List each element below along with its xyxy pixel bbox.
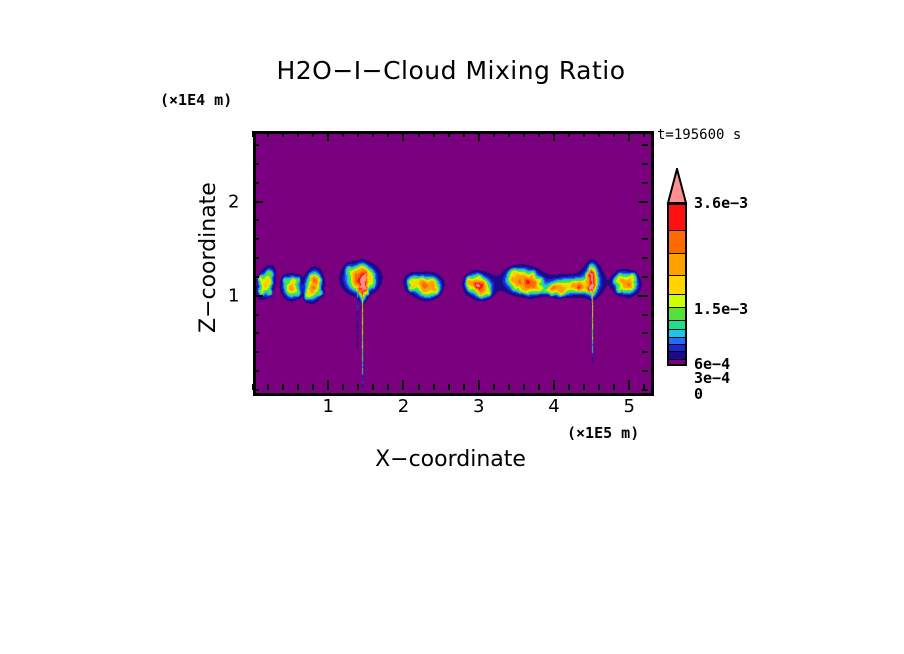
x-tick-top <box>463 131 465 137</box>
x-tick <box>327 380 329 390</box>
colorbar-band <box>669 352 685 359</box>
x-tick-top <box>478 131 480 141</box>
x-tick-top <box>613 131 615 137</box>
colorbar-band <box>669 360 685 366</box>
y-tick <box>253 295 263 297</box>
y-tick-right <box>642 238 648 240</box>
y-tick <box>253 163 259 165</box>
colorbar-bands <box>667 203 687 366</box>
y-tick-label: 1 <box>228 285 239 306</box>
x-tick-top <box>553 131 555 141</box>
y-tick-right <box>642 314 648 316</box>
x-tick-top <box>568 131 570 137</box>
x-tick <box>478 380 480 390</box>
x-tick <box>267 384 269 390</box>
y-axis-unit-label: (×1E4 m) <box>160 91 232 109</box>
colorbar-band <box>669 345 685 352</box>
x-axis-unit-label: (×1E5 m) <box>567 424 639 442</box>
x-tick-top <box>493 131 495 137</box>
y-tick <box>253 219 259 221</box>
y-tick-right <box>638 295 648 297</box>
y-tick <box>253 276 259 278</box>
colorbar-tick-label: 3.6e−3 <box>694 194 748 212</box>
y-tick-right <box>642 144 648 146</box>
x-tick-top <box>267 131 269 137</box>
x-tick <box>583 384 585 390</box>
x-tick-label: 3 <box>473 396 484 417</box>
x-tick-label: 2 <box>398 396 409 417</box>
y-tick <box>253 238 259 240</box>
colorbar-band <box>669 295 685 308</box>
x-axis-title: X−coordinate <box>253 447 648 472</box>
x-tick-top <box>372 131 374 137</box>
x-tick <box>372 384 374 390</box>
y-tick <box>253 201 263 203</box>
x-tick <box>357 384 359 390</box>
colorbar-band <box>669 330 685 337</box>
x-tick-top <box>252 131 254 137</box>
colorbar-band <box>669 205 685 231</box>
figure-canvas: H2O−I−Cloud Mixing Ratio (×1E4 m) 123451… <box>0 0 904 654</box>
colorbar-band <box>669 231 685 253</box>
x-tick-top <box>448 131 450 137</box>
x-tick <box>523 384 525 390</box>
y-tick <box>253 144 259 146</box>
colorbar-band <box>669 338 685 345</box>
x-tick-top <box>583 131 585 137</box>
x-tick <box>463 384 465 390</box>
x-tick-top <box>282 131 284 137</box>
x-tick-top <box>538 131 540 137</box>
x-tick <box>402 380 404 390</box>
x-tick <box>628 380 630 390</box>
x-tick <box>508 384 510 390</box>
plot-area <box>253 131 654 396</box>
colorbar-band <box>669 308 685 321</box>
colorbar-band <box>669 321 685 331</box>
x-tick-top <box>418 131 420 137</box>
y-tick <box>253 389 259 391</box>
y-tick-right <box>642 389 648 391</box>
contour-field <box>256 134 651 393</box>
colorbar-band <box>669 254 685 276</box>
x-tick-label: 5 <box>623 396 634 417</box>
y-tick <box>253 182 259 184</box>
x-tick-top <box>402 131 404 141</box>
x-tick <box>387 384 389 390</box>
colorbar-tick-label: 0 <box>694 385 703 403</box>
x-tick <box>493 384 495 390</box>
x-tick-top <box>357 131 359 137</box>
x-tick-top <box>643 131 645 137</box>
y-axis-title: Z−coordinate <box>196 168 226 348</box>
x-tick-top <box>598 131 600 137</box>
y-tick-right <box>642 163 648 165</box>
x-tick-top <box>523 131 525 137</box>
colorbar-tick-label: 1.5e−3 <box>694 300 748 318</box>
y-tick-right <box>642 257 648 259</box>
time-annotation: t=195600 s <box>657 127 741 143</box>
y-tick-right <box>638 201 648 203</box>
x-tick <box>312 384 314 390</box>
y-tick-right <box>642 370 648 372</box>
x-tick-top <box>628 131 630 141</box>
y-tick-right <box>642 276 648 278</box>
y-tick <box>253 257 259 259</box>
x-tick <box>297 384 299 390</box>
y-tick <box>253 314 259 316</box>
x-tick <box>433 384 435 390</box>
x-tick <box>613 384 615 390</box>
colorbar-tick-label: 3e−4 <box>694 369 730 387</box>
y-tick-right <box>642 332 648 334</box>
x-tick-top <box>508 131 510 137</box>
x-tick-top <box>433 131 435 137</box>
x-tick <box>553 380 555 390</box>
x-tick <box>342 384 344 390</box>
y-tick-label: 2 <box>228 191 239 212</box>
x-tick-top <box>297 131 299 137</box>
y-tick-right <box>642 351 648 353</box>
x-tick <box>418 384 420 390</box>
x-tick-label: 1 <box>323 396 334 417</box>
y-tick-right <box>642 219 648 221</box>
y-tick <box>253 351 259 353</box>
x-tick <box>538 384 540 390</box>
x-tick-top <box>387 131 389 137</box>
x-tick <box>282 384 284 390</box>
x-tick-top <box>327 131 329 141</box>
y-tick <box>253 370 259 372</box>
colorbar-arrow-icon <box>665 168 689 204</box>
x-tick <box>598 384 600 390</box>
x-tick-top <box>312 131 314 137</box>
colorbar <box>665 168 689 400</box>
y-tick <box>253 332 259 334</box>
page-title: H2O−I−Cloud Mixing Ratio <box>253 56 649 85</box>
x-tick-label: 4 <box>548 396 559 417</box>
colorbar-band <box>669 276 685 294</box>
x-tick <box>448 384 450 390</box>
x-tick-top <box>342 131 344 137</box>
x-tick <box>568 384 570 390</box>
y-tick-right <box>642 182 648 184</box>
